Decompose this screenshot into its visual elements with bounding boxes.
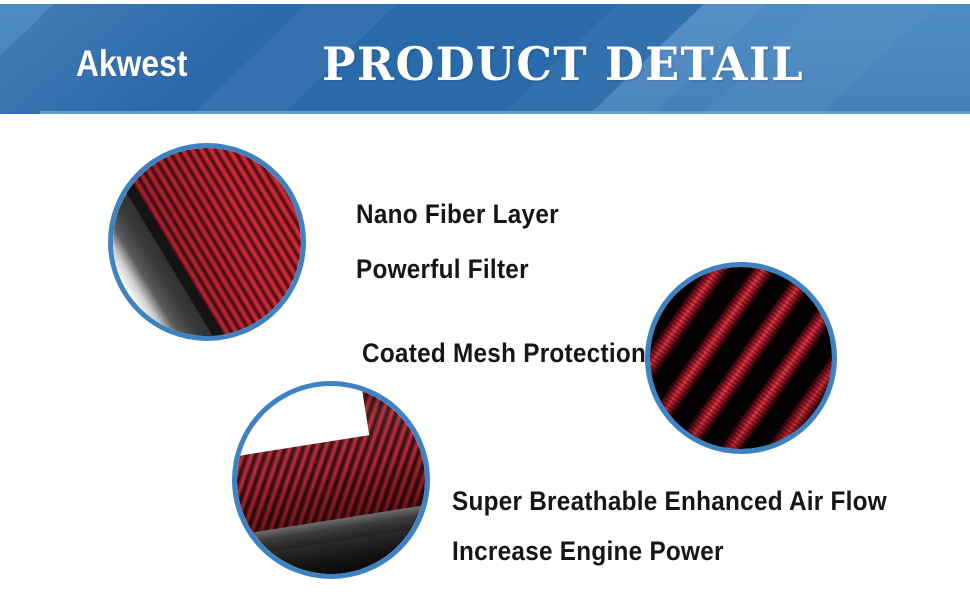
feature-label-increase-engine-power: Increase Engine Power bbox=[452, 536, 724, 566]
curved-panel-image bbox=[237, 386, 425, 574]
page-title: PRODUCT DETAIL bbox=[322, 38, 804, 90]
header-banner: Akwest PRODUCT DETAIL bbox=[0, 4, 970, 114]
macro-mesh-vignette bbox=[650, 267, 832, 449]
feature-label-powerful-filter: Powerful Filter bbox=[356, 254, 529, 284]
macro-mesh-image bbox=[650, 267, 832, 449]
feature-label-super-breathable: Super Breathable Enhanced Air Flow bbox=[452, 486, 887, 516]
feature-label-coated-mesh-protection: Coated Mesh Protection bbox=[362, 338, 646, 368]
product-photo-flat-panel bbox=[108, 143, 306, 341]
product-photo-macro-mesh bbox=[645, 262, 837, 454]
product-detail-banner: Akwest PRODUCT DETAIL bbox=[0, 0, 970, 600]
header-bottom-rule bbox=[40, 111, 970, 114]
feature-label-nano-fiber-layer: Nano Fiber Layer bbox=[356, 199, 559, 229]
product-photo-curved-panel bbox=[232, 381, 430, 579]
flat-panel-image bbox=[113, 148, 301, 336]
flat-panel-media bbox=[113, 148, 301, 336]
brand-logo-text: Akwest bbox=[76, 44, 187, 84]
